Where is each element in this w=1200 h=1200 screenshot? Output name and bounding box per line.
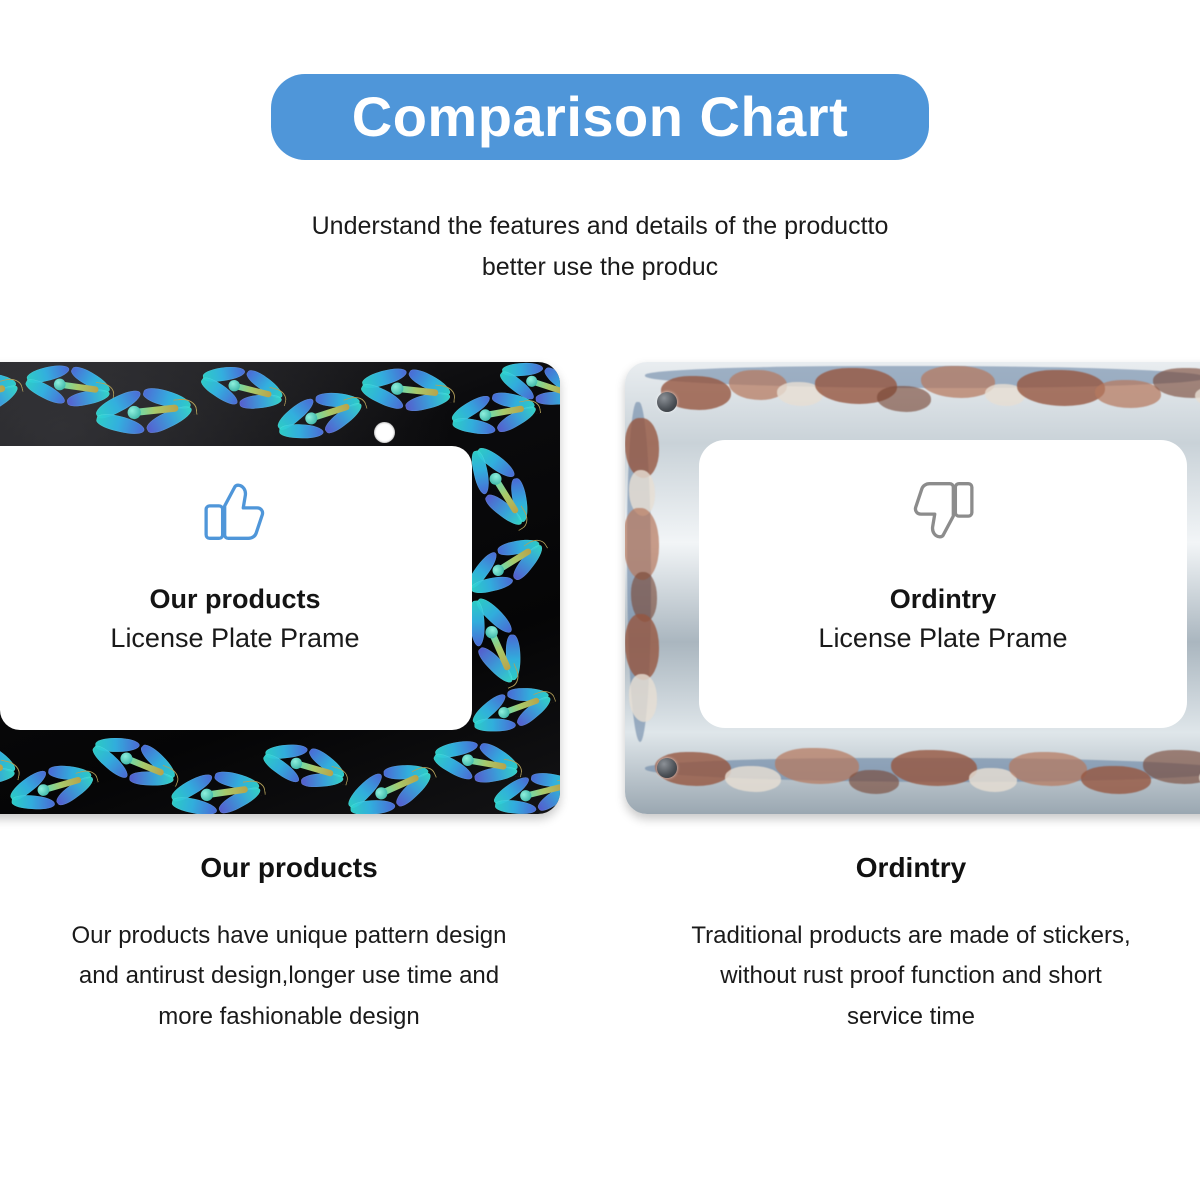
thumbs-down-icon bbox=[910, 480, 976, 542]
ordinary-desc-line-2: without rust proof function and short bbox=[640, 956, 1182, 996]
our-desc-line-3: more fashionable design bbox=[18, 997, 560, 1037]
our-product-column: Our products License Plate Prame bbox=[0, 340, 560, 820]
our-product-image: Our products License Plate Prame bbox=[0, 362, 560, 814]
page-title: Comparison Chart bbox=[352, 89, 849, 145]
page-subtitle: Understand the features and details of t… bbox=[312, 206, 889, 289]
our-desc-line-1: Our products have unique pattern design bbox=[18, 916, 560, 956]
comparison-band: Our products License Plate Prame bbox=[0, 340, 1200, 820]
ordinary-product-subtitle: License Plate Prame bbox=[818, 623, 1067, 654]
our-product-desc-title: Our products bbox=[18, 852, 560, 884]
description-row: Our products Our products have unique pa… bbox=[0, 852, 1200, 1037]
ordinary-product-desc-title: Ordintry bbox=[640, 852, 1182, 884]
our-desc-line-2: and antirust design,longer use time and bbox=[18, 956, 560, 996]
subtitle-line-2: better use the produc bbox=[312, 247, 889, 288]
screw-hole bbox=[374, 422, 395, 443]
ordinary-product-description: Ordintry Traditional products are made o… bbox=[600, 852, 1200, 1037]
our-product-title: Our products bbox=[149, 584, 320, 615]
ordinary-desc-line-1: Traditional products are made of sticker… bbox=[640, 916, 1182, 956]
our-product-desc-body: Our products have unique pattern design … bbox=[18, 916, 560, 1037]
our-product-subtitle: License Plate Prame bbox=[110, 623, 359, 654]
ordinary-product-desc-body: Traditional products are made of sticker… bbox=[640, 916, 1182, 1037]
ordinary-desc-line-3: service time bbox=[640, 997, 1182, 1037]
ordinary-product-title: Ordintry bbox=[890, 584, 997, 615]
ordinary-product-column: Ordintry License Plate Prame bbox=[625, 340, 1200, 820]
ordinary-product-image: Ordintry License Plate Prame bbox=[625, 362, 1200, 814]
ordinary-product-center-label: Ordintry License Plate Prame bbox=[625, 480, 1200, 654]
subtitle-line-1: Understand the features and details of t… bbox=[312, 206, 889, 247]
our-product-description: Our products Our products have unique pa… bbox=[0, 852, 600, 1037]
thumbs-up-icon bbox=[202, 480, 268, 542]
our-product-center-label: Our products License Plate Prame bbox=[0, 480, 560, 654]
screw-hole-top-left bbox=[657, 392, 677, 412]
page-header: Comparison Chart Understand the features… bbox=[0, 0, 1200, 289]
screw-hole-bottom-left bbox=[657, 758, 677, 778]
title-banner: Comparison Chart bbox=[271, 74, 929, 160]
